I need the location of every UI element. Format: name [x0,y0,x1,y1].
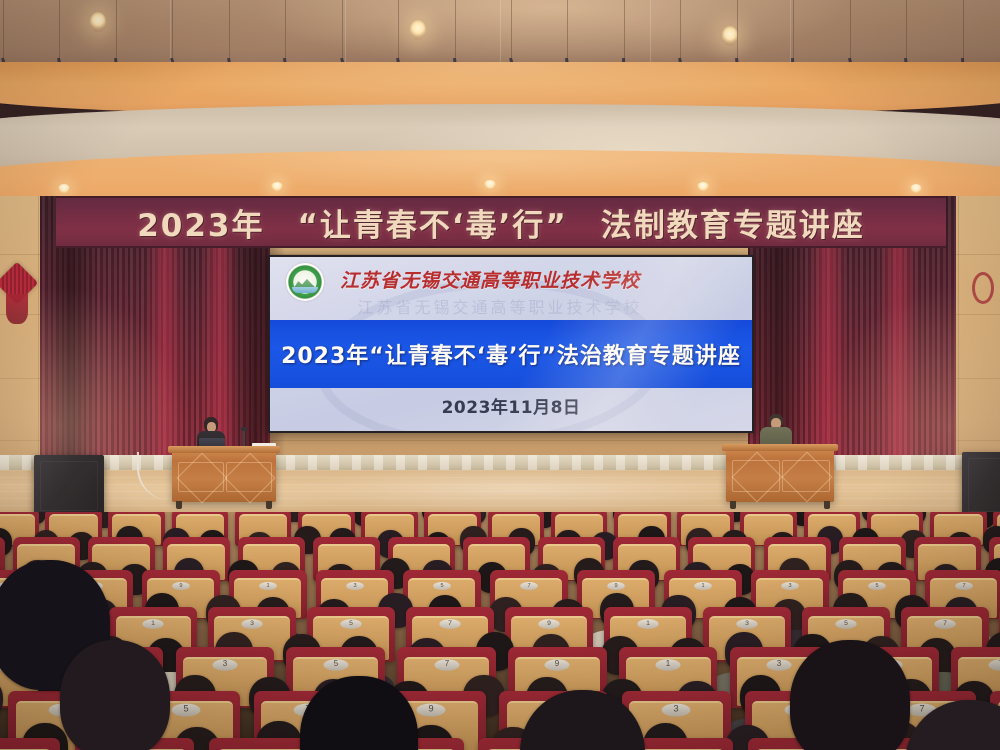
soffit-downlight [697,182,709,191]
audience-head-foreground [60,640,170,750]
desk-leg [266,501,272,509]
knot-tassel [6,294,28,324]
seat-number-plate: 9 [538,619,559,629]
truss-support-wire [59,0,60,58]
desk-panel [732,460,780,492]
seat-number-plate: 3 [736,619,757,629]
projection-screen: 江苏省无锡交通高等职业技术学校 Wuxi institute of commun… [270,257,752,431]
desk-panel [178,462,224,492]
seat-number-plate: 5 [433,582,451,590]
ceiling-downlight [90,12,106,32]
seat-number-plate: 1 [259,582,277,590]
desk-diamond-inlay [782,452,833,503]
seat-number-plate: 7 [520,582,538,590]
truss-support-wire [511,0,512,58]
podium-desk-left[interactable] [172,452,276,502]
truss-support-wire [624,0,625,58]
ceiling-downlight [722,26,738,46]
chinese-knot-decoration [0,268,38,326]
desk-panel [782,460,830,492]
slide-header: 江苏省无锡交通高等职业技术学校 [270,257,752,305]
truss-support-wire [793,0,794,58]
wall-ornament-right [972,272,994,304]
seat-number-plate: 3 [346,582,364,590]
microphone-head [241,427,247,431]
seat-number-plate: 3 [242,619,263,629]
desk-diamond-inlay [177,453,228,504]
truss-support-wire [963,0,964,58]
desk-diamond-inlay [225,453,276,504]
seat-number-plate: 5 [341,619,362,629]
truss-support-wire [172,0,173,58]
seat-number-plate: 1 [694,582,712,590]
school-emblem-icon [286,263,324,301]
ceiling-downlight [410,20,426,40]
seat-number-plate: 7 [934,619,955,629]
desk-leg [730,501,736,509]
desk-leg [176,501,182,509]
seat-number-plate: 5 [835,619,856,629]
seat-number-plate: 5 [171,704,200,717]
soffit-downlight [58,184,70,193]
desk-top-surface [168,446,280,453]
seat-number-plate: 9 [172,582,190,590]
event-banner: 2023年 “让青春不‘毒’行” 法制教育专题讲座 [56,196,946,248]
desk-diamond-inlay [732,452,783,503]
seat-number-plate: 7 [955,582,973,590]
soffit-downlight [271,182,283,191]
slide-title-text: 2023年“让青春不‘毒’行”法治教育专题讲座 [281,338,741,370]
seat-number-plate: 5 [868,582,886,590]
seat-number-plate: 7 [434,660,459,671]
soffit-downlight [910,184,922,193]
emblem-water-shape [292,287,318,293]
seat-number-plate: 7 [439,619,460,629]
truss-support-wire [229,0,230,58]
auditorium-photo: 2023年 “让青春不‘毒’行” 法制教育专题讲座 江苏省无锡交通高等职业技术学… [0,0,1000,750]
pa-speaker-left [34,455,104,517]
seat-number-plate: 9 [607,582,625,590]
truss-support-wire [737,0,738,58]
truss-support-wire [3,0,4,58]
desk-panel [226,462,272,492]
truss-support-wire [850,0,851,58]
audience-seating-area: 5791357913579791357913579913579135713579… [0,512,1000,750]
audience-seat[interactable]: 3 [0,738,60,750]
seat-number-plate: 1 [637,619,658,629]
truss-support-wire [116,0,117,58]
slide-date-text: 2023年11月8日 [270,393,752,418]
seat-number-plate: 5 [323,660,348,671]
desk-leg [824,501,830,509]
audience-head-foreground [790,640,910,750]
truss-support-wire [285,0,286,58]
slide-school-name: 江苏省无锡交通高等职业技术学校 [340,266,640,293]
truss-support-wire [398,0,399,58]
truss-support-wire [455,0,456,58]
truss-support-wire [906,0,907,58]
seat-number-plate: 3 [781,582,799,590]
pa-speaker-right [962,452,1000,518]
soffit-downlight [484,180,496,189]
seat-number-plate: 1 [143,619,164,629]
podium-desk-right[interactable] [726,450,834,502]
desk-top-surface [722,444,838,451]
truss-support-wire [567,0,568,58]
truss-support-wire [680,0,681,58]
slide-title-band: 2023年“让青春不‘毒’行”法治教育专题讲座 [270,320,752,388]
banner-title-text: 2023年 “让青春不‘毒’行” 法制教育专题讲座 [137,200,865,245]
projection-screen-frame: 江苏省无锡交通高等职业技术学校 Wuxi institute of commun… [268,255,754,433]
truss-support-wire [342,0,343,58]
